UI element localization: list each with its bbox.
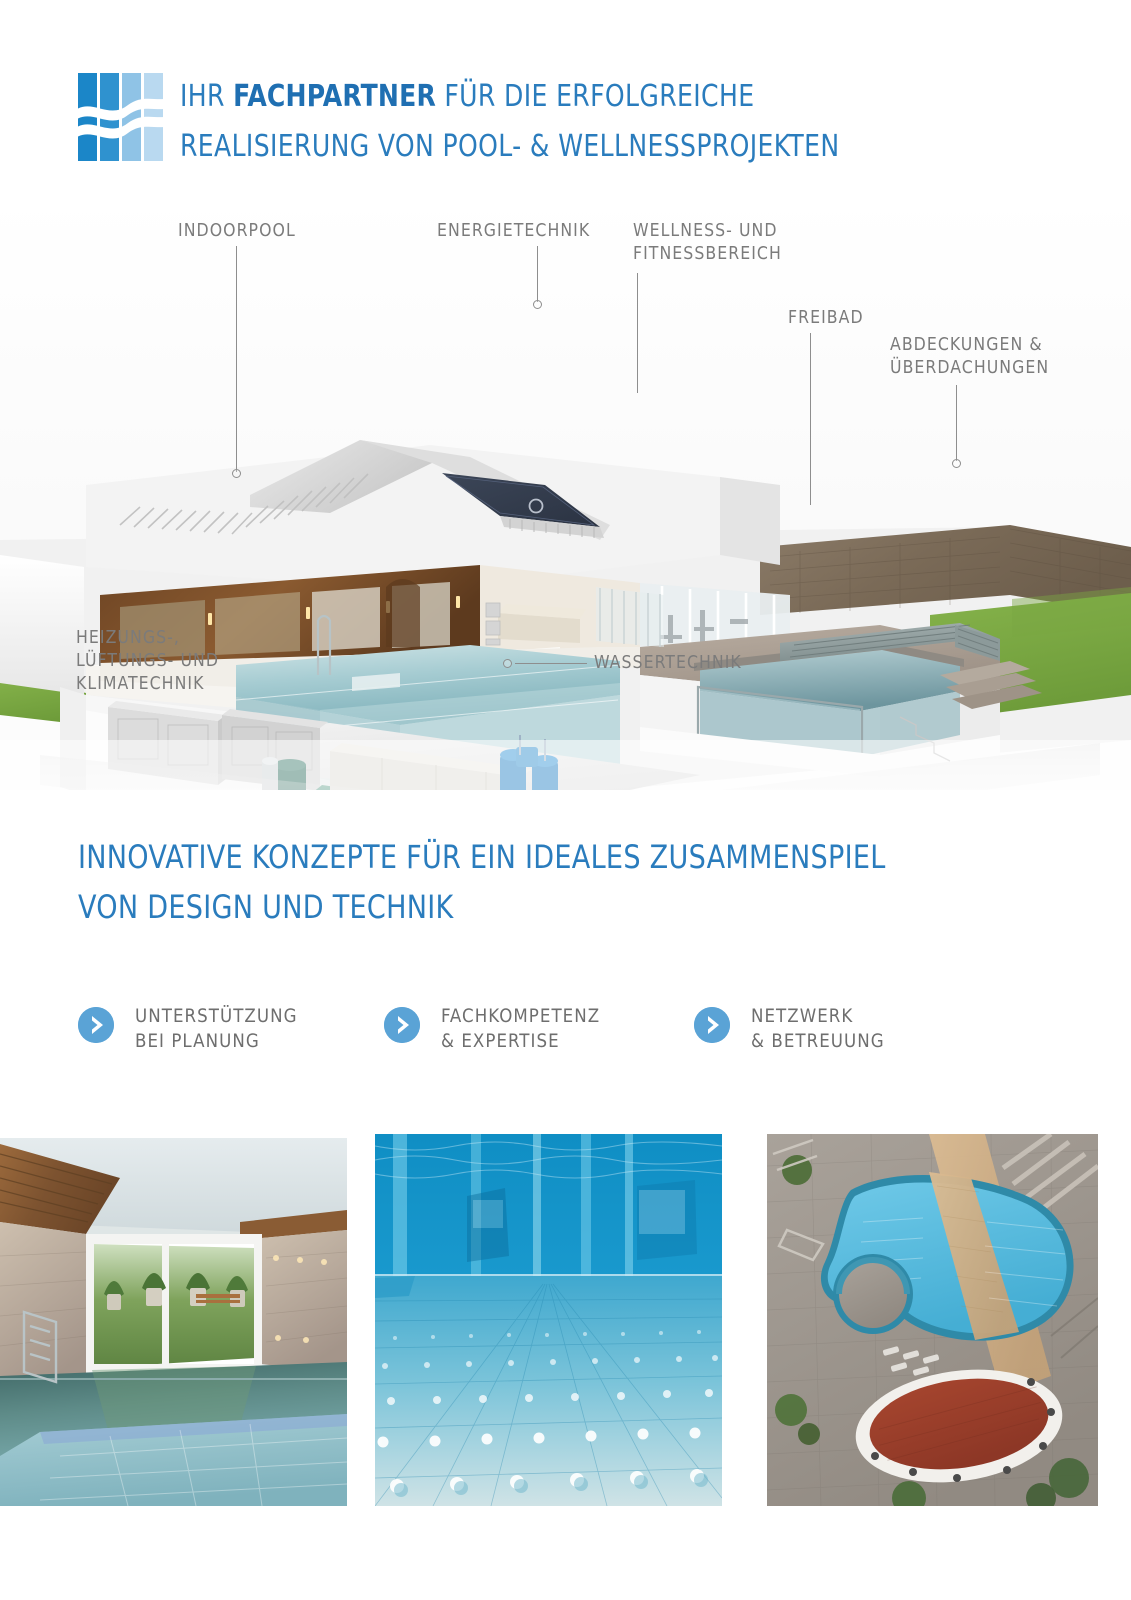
poster-page: IHR FACHPARTNER FÜR DIE ERFOLGREICHE REA… (0, 0, 1131, 1600)
photo-gallery (0, 1126, 1131, 1506)
callout-label-wassertechnik: WASSERTECHNIK (594, 652, 742, 675)
callout-leader-freibad (810, 333, 811, 505)
callout-dot-wassertechnik (503, 659, 512, 668)
wave-bars-logo (78, 73, 164, 161)
callout-label-energietechnik: ENERGIETECHNIK (437, 220, 590, 243)
feature-line-1: UNTERSTÜTZUNG (135, 1006, 298, 1027)
cutaway-scene (0, 195, 1131, 790)
cutaway-illustration: INDOORPOOL ENERGIETECHNIK WELLNESS- UND … (0, 195, 1131, 790)
feature-text: NETZWERK& BETREUUNG (751, 1004, 885, 1054)
photo-aerial-pools (751, 1126, 1098, 1506)
callout-dot-energietechnik (533, 300, 542, 309)
headline-bold: FACHPARTNER (233, 79, 436, 114)
feature-line-2: & EXPERTISE (441, 1031, 560, 1052)
callout-label-hlk-line3: KLIMATECHNIK (76, 673, 204, 696)
callout-leader-abdeckungen (956, 385, 957, 461)
headline: IHR FACHPARTNER FÜR DIE ERFOLGREICHE REA… (180, 72, 1060, 172)
callout-label-hlk-line2: LÜFTUNGS- UND (76, 650, 219, 673)
photo-underwater-pool (375, 1126, 722, 1506)
page-header: IHR FACHPARTNER FÜR DIE ERFOLGREICHE REA… (0, 0, 1131, 195)
headline-prefix: IHR (180, 79, 233, 114)
chevron-right-circle-icon (694, 1007, 730, 1043)
feature-line-2: & BETREUUNG (751, 1031, 885, 1052)
callout-label-hlk-line1: HEIZUNGS-, (76, 627, 180, 650)
section-heading-line-1: INNOVATIVE KONZEPTE FÜR EIN IDEALES ZUSA… (78, 832, 962, 882)
section-heading-line-2: VON DESIGN UND TECHNIK (78, 882, 962, 932)
callout-label-abdeckungen-line2: ÜBERDACHUNGEN (890, 357, 1049, 380)
callout-leader-energietechnik (537, 246, 538, 302)
feature-text: UNTERSTÜTZUNGBEI PLANUNG (135, 1004, 298, 1054)
headline-suffix: FÜR DIE ERFOLGREICHE (436, 79, 754, 114)
callout-label-wellness-line1: WELLNESS- UND (633, 220, 778, 243)
callout-label-freibad: FREIBAD (788, 307, 864, 330)
headline-line-1: IHR FACHPARTNER FÜR DIE ERFOLGREICHE (180, 72, 998, 122)
feature-line-1: FACHKOMPETENZ (441, 1006, 600, 1027)
callout-leader-wassertechnik (515, 663, 587, 664)
chevron-right-circle-icon (78, 1007, 114, 1043)
callout-leader-indoorpool (236, 246, 237, 472)
section-heading: INNOVATIVE KONZEPTE FÜR EIN IDEALES ZUSA… (78, 832, 1018, 932)
feature-item-unterstuetzung[interactable]: UNTERSTÜTZUNGBEI PLANUNG (78, 1004, 298, 1054)
callout-label-indoorpool: INDOORPOOL (178, 220, 296, 243)
feature-line-2: BEI PLANUNG (135, 1031, 260, 1052)
feature-line-1: NETZWERK (751, 1006, 853, 1027)
callout-dot-indoorpool (232, 469, 241, 478)
feature-item-fachkompetenz[interactable]: FACHKOMPETENZ& EXPERTISE (384, 1004, 600, 1054)
callout-dot-abdeckungen (952, 459, 961, 468)
feature-item-netzwerk[interactable]: NETZWERK& BETREUUNG (694, 1004, 885, 1054)
photo-indoor-pool (0, 1126, 347, 1506)
headline-line-2: REALISIERUNG VON POOL- & WELLNESSPROJEKT… (180, 122, 998, 172)
chevron-right-circle-icon (384, 1007, 420, 1043)
callout-leader-wellness (637, 273, 638, 393)
callout-label-abdeckungen-line1: ABDECKUNGEN & (890, 334, 1043, 357)
callout-label-wellness-line2: FITNESSBEREICH (633, 243, 782, 266)
feature-text: FACHKOMPETENZ& EXPERTISE (441, 1004, 600, 1054)
feature-list: UNTERSTÜTZUNGBEI PLANUNG FACHKOMPETENZ& … (78, 1004, 1058, 1074)
